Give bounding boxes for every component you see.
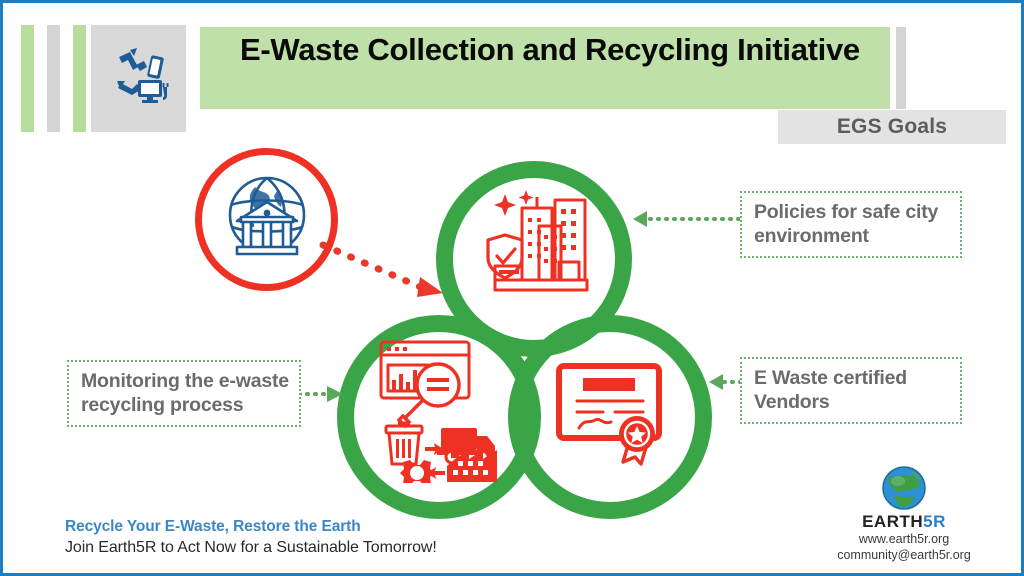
brand-logo-tile: [91, 25, 186, 132]
callout-vendors: E Waste certified Vendors: [740, 357, 962, 424]
brand-name-prefix: EARTH: [862, 512, 923, 531]
venn-circle-vendors: [508, 315, 712, 519]
egs-goals-label: EGS Goals: [837, 115, 947, 139]
callout-policies-text: Policies for safe city environment: [754, 200, 950, 248]
header-accent-bar-green-2: [73, 25, 86, 132]
footer-subtitle: Join Earth5R to Act Now for a Sustainabl…: [65, 539, 535, 557]
footer-tagline-block: Recycle Your E-Waste, Restore the Earth …: [65, 518, 535, 557]
header-accent-bar-green-1: [21, 25, 34, 132]
callout-vendors-text: E Waste certified Vendors: [754, 366, 950, 414]
brand-website[interactable]: www.earth5r.org: [809, 532, 999, 548]
connector-source-to-policies: [321, 241, 451, 303]
callout-monitoring-text: Monitoring the e-waste recycling process: [81, 369, 289, 417]
title-right-accent-bar: [896, 27, 906, 109]
connector-policies-label: [615, 208, 745, 230]
page-title: E-Waste Collection and Recycling Initiat…: [240, 31, 880, 69]
ewaste-recycling-icon: [106, 43, 172, 114]
footer-tagline: Recycle Your E-Waste, Restore the Earth: [65, 518, 535, 536]
brand-wordmark: EARTH5R: [809, 512, 999, 532]
connector-monitoring-label: [297, 383, 347, 405]
globe-institution-badge: [195, 148, 338, 291]
infographic-page: E-Waste Collection and Recycling Initiat…: [0, 0, 1024, 576]
callout-monitoring: Monitoring the e-waste recycling process: [67, 360, 301, 427]
globe-institution-icon: [211, 161, 323, 278]
brand-block: EARTH5R www.earth5r.org community@earth5…: [809, 465, 999, 563]
callout-policies: Policies for safe city environment: [740, 191, 962, 258]
connector-vendors-label: [691, 371, 745, 393]
earth-globe-icon: [809, 465, 999, 511]
header-accent-bar-gray: [47, 25, 60, 132]
egs-goals-badge: EGS Goals: [778, 110, 1006, 144]
brand-email[interactable]: community@earth5r.org: [809, 548, 999, 564]
brand-name-suffix: 5R: [923, 512, 946, 531]
